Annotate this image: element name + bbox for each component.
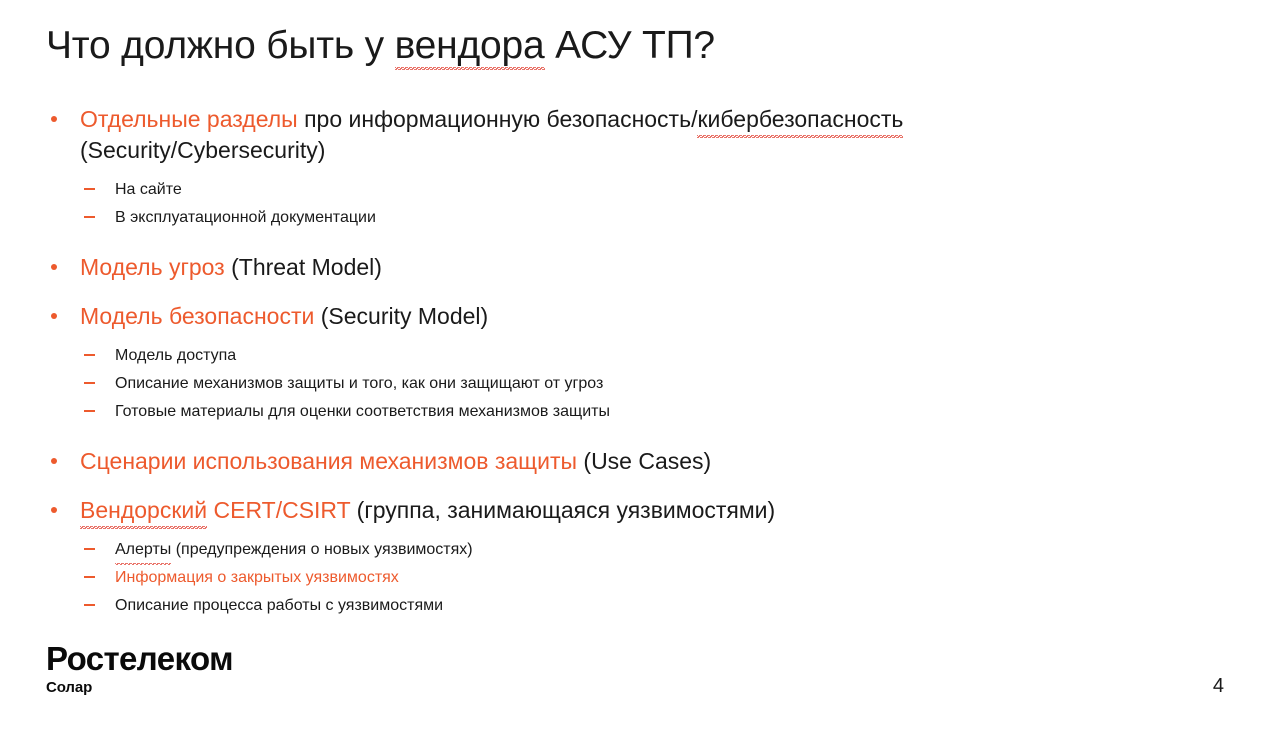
bullet-item-1: Отдельные разделы про информационную без… xyxy=(46,104,1236,166)
dash-icon xyxy=(84,382,95,384)
bullet-5-accent-text: CERT/CSIRT xyxy=(207,497,350,523)
bullet-1-misspelled-word: кибербезопасность xyxy=(697,104,903,135)
slide: Что должно быть у вендора АСУ ТП? Отдель… xyxy=(0,0,1280,731)
bullet-dot-icon xyxy=(51,507,57,513)
bullet-1-plain-text: про информационную безопасность/ xyxy=(298,106,698,132)
sub-bullet-3-1: Модель доступа xyxy=(46,342,1236,370)
bullet-2-accent-text: Модель угроз xyxy=(80,254,225,280)
sub-list-1: На сайте В эксплуатационной документации xyxy=(46,176,1236,232)
spacer xyxy=(46,426,1236,446)
title-text-part-2: АСУ ТП? xyxy=(545,24,715,67)
logo-main-text: Ростелеком xyxy=(46,641,233,677)
dash-icon xyxy=(84,604,95,606)
bullet-item-3: Модель безопасности (Security Model) xyxy=(46,301,1236,332)
bullet-3-accent-text: Модель безопасности xyxy=(80,303,314,329)
dash-icon xyxy=(84,548,95,550)
spacer xyxy=(46,283,1236,301)
bullet-list: Отдельные разделы про информационную без… xyxy=(46,104,1236,620)
bullet-1-second-line: (Security/Cybersecurity) xyxy=(80,135,1236,166)
sub-bullet-3-3: Готовые материалы для оценки соответстви… xyxy=(46,398,1236,426)
sub-bullet-5-1-misspelled-word: Алерты xyxy=(115,536,171,564)
bullet-2-plain-text: (Threat Model) xyxy=(225,254,382,280)
bullet-5-misspelled-word: Вендорский xyxy=(80,495,207,526)
bullet-dot-icon xyxy=(51,458,57,464)
bullet-item-4: Сценарии использования механизмов защиты… xyxy=(46,446,1236,477)
sub-bullet-1-2: В эксплуатационной документации xyxy=(46,204,1236,232)
sub-list-5: Алерты (предупреждения о новых уязвимост… xyxy=(46,536,1236,620)
sub-bullet-5-1-text: (предупреждения о новых уязвимостях) xyxy=(171,541,472,558)
title-text-part-1: Что должно быть у xyxy=(46,24,395,67)
bullet-dot-icon xyxy=(51,264,57,270)
bullet-1-accent-text: Отдельные разделы xyxy=(80,106,298,132)
sub-bullet-3-3-text: Готовые материалы для оценки соответстви… xyxy=(115,403,610,420)
logo-sub-text: Солар xyxy=(46,679,233,696)
dash-icon xyxy=(84,576,95,578)
sub-bullet-5-1: Алерты (предупреждения о новых уязвимост… xyxy=(46,536,1236,564)
bullet-item-5: Вендорский CERT/CSIRT (группа, занимающа… xyxy=(46,495,1236,526)
sub-list-3: Модель доступа Описание механизмов защит… xyxy=(46,342,1236,426)
sub-bullet-5-2: Информация о закрытых уязвимостях xyxy=(46,564,1236,592)
page-title: Что должно быть у вендора АСУ ТП? xyxy=(46,24,715,68)
bullet-3-plain-text: (Security Model) xyxy=(314,303,488,329)
dash-icon xyxy=(84,410,95,412)
bullet-5-plain-text: (группа, занимающаяся уязвимостями) xyxy=(350,497,775,523)
sub-bullet-3-1-text: Модель доступа xyxy=(115,347,236,364)
spacer xyxy=(46,477,1236,495)
dash-icon xyxy=(84,188,95,190)
bullet-dot-icon xyxy=(51,313,57,319)
bullet-dot-icon xyxy=(51,116,57,122)
sub-bullet-1-1: На сайте xyxy=(46,176,1236,204)
sub-bullet-5-3-text: Описание процесса работы с уязвимостями xyxy=(115,597,443,614)
sub-bullet-1-2-text: В эксплуатационной документации xyxy=(115,209,376,226)
sub-bullet-5-2-text: Информация о закрытых уязвимостях xyxy=(115,569,399,586)
bullet-4-plain-text: (Use Cases) xyxy=(577,448,711,474)
dash-icon xyxy=(84,216,95,218)
spacer xyxy=(46,232,1236,252)
bullet-4-accent-text: Сценарии использования механизмов защиты xyxy=(80,448,577,474)
sub-bullet-3-2-text: Описание механизмов защиты и того, как о… xyxy=(115,375,603,392)
sub-bullet-5-3: Описание процесса работы с уязвимостями xyxy=(46,592,1236,620)
sub-bullet-3-2: Описание механизмов защиты и того, как о… xyxy=(46,370,1236,398)
brand-logo: Ростелеком Солар xyxy=(46,641,233,696)
bullet-item-2: Модель угроз (Threat Model) xyxy=(46,252,1236,283)
page-number: 4 xyxy=(1213,675,1224,698)
dash-icon xyxy=(84,354,95,356)
sub-bullet-1-1-text: На сайте xyxy=(115,181,182,198)
title-misspelled-word: вендора xyxy=(395,24,545,68)
